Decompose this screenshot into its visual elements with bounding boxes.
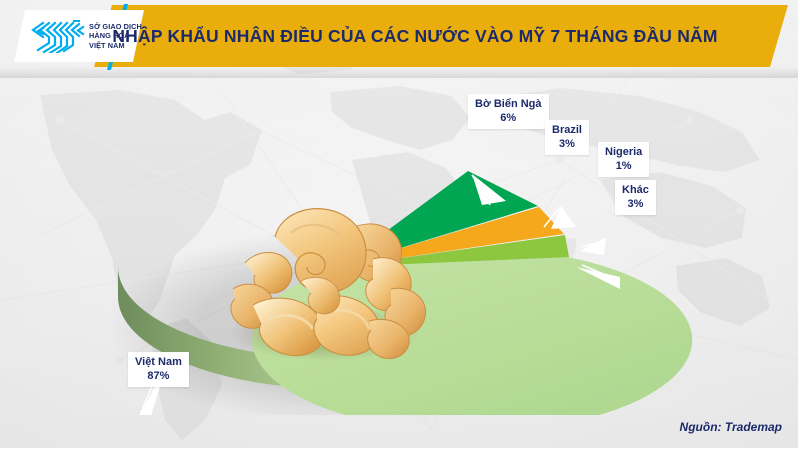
- source-note: Nguồn: Trademap: [680, 420, 782, 434]
- callout-label-nigeria: Nigeria: [605, 146, 642, 158]
- callout-nigeria[interactable]: Nigeria 1%: [598, 142, 649, 177]
- mxv-maze-logo-icon: [29, 19, 85, 53]
- pie-chart: [20, 75, 700, 415]
- callout-value-khac: 3%: [622, 197, 649, 211]
- callout-label-khac: Khác: [622, 184, 649, 196]
- callout-viet-nam[interactable]: Việt Nam 87%: [128, 352, 189, 387]
- page-title: NHẬP KHẨU NHÂN ĐIỀU CỦA CÁC NƯỚC VÀO MỸ …: [115, 5, 715, 67]
- callout-label-brazil: Brazil: [552, 124, 582, 136]
- cashew-nuts-photo: [205, 193, 445, 368]
- callout-value-viet-nam: 87%: [135, 369, 182, 383]
- callout-label-bo-bien-nga: Bờ Biển Ngà: [475, 98, 542, 110]
- callout-label-viet-nam: Việt Nam: [135, 356, 182, 368]
- header-bar: SỞ GIAO DỊCH HÀNG HÓA VIỆT NAM NHẬP KHẨU…: [0, 0, 800, 72]
- callout-value-nigeria: 1%: [605, 159, 642, 173]
- callout-value-bo-bien-nga: 6%: [475, 111, 542, 125]
- callout-value-brazil: 3%: [552, 137, 582, 151]
- callout-khac[interactable]: Khác 3%: [615, 180, 656, 215]
- callout-bo-bien-nga[interactable]: Bờ Biển Ngà 6%: [468, 94, 549, 129]
- callout-brazil[interactable]: Brazil 3%: [545, 120, 589, 155]
- infographic-canvas: SỞ GIAO DỊCH HÀNG HÓA VIỆT NAM NHẬP KHẨU…: [0, 0, 800, 450]
